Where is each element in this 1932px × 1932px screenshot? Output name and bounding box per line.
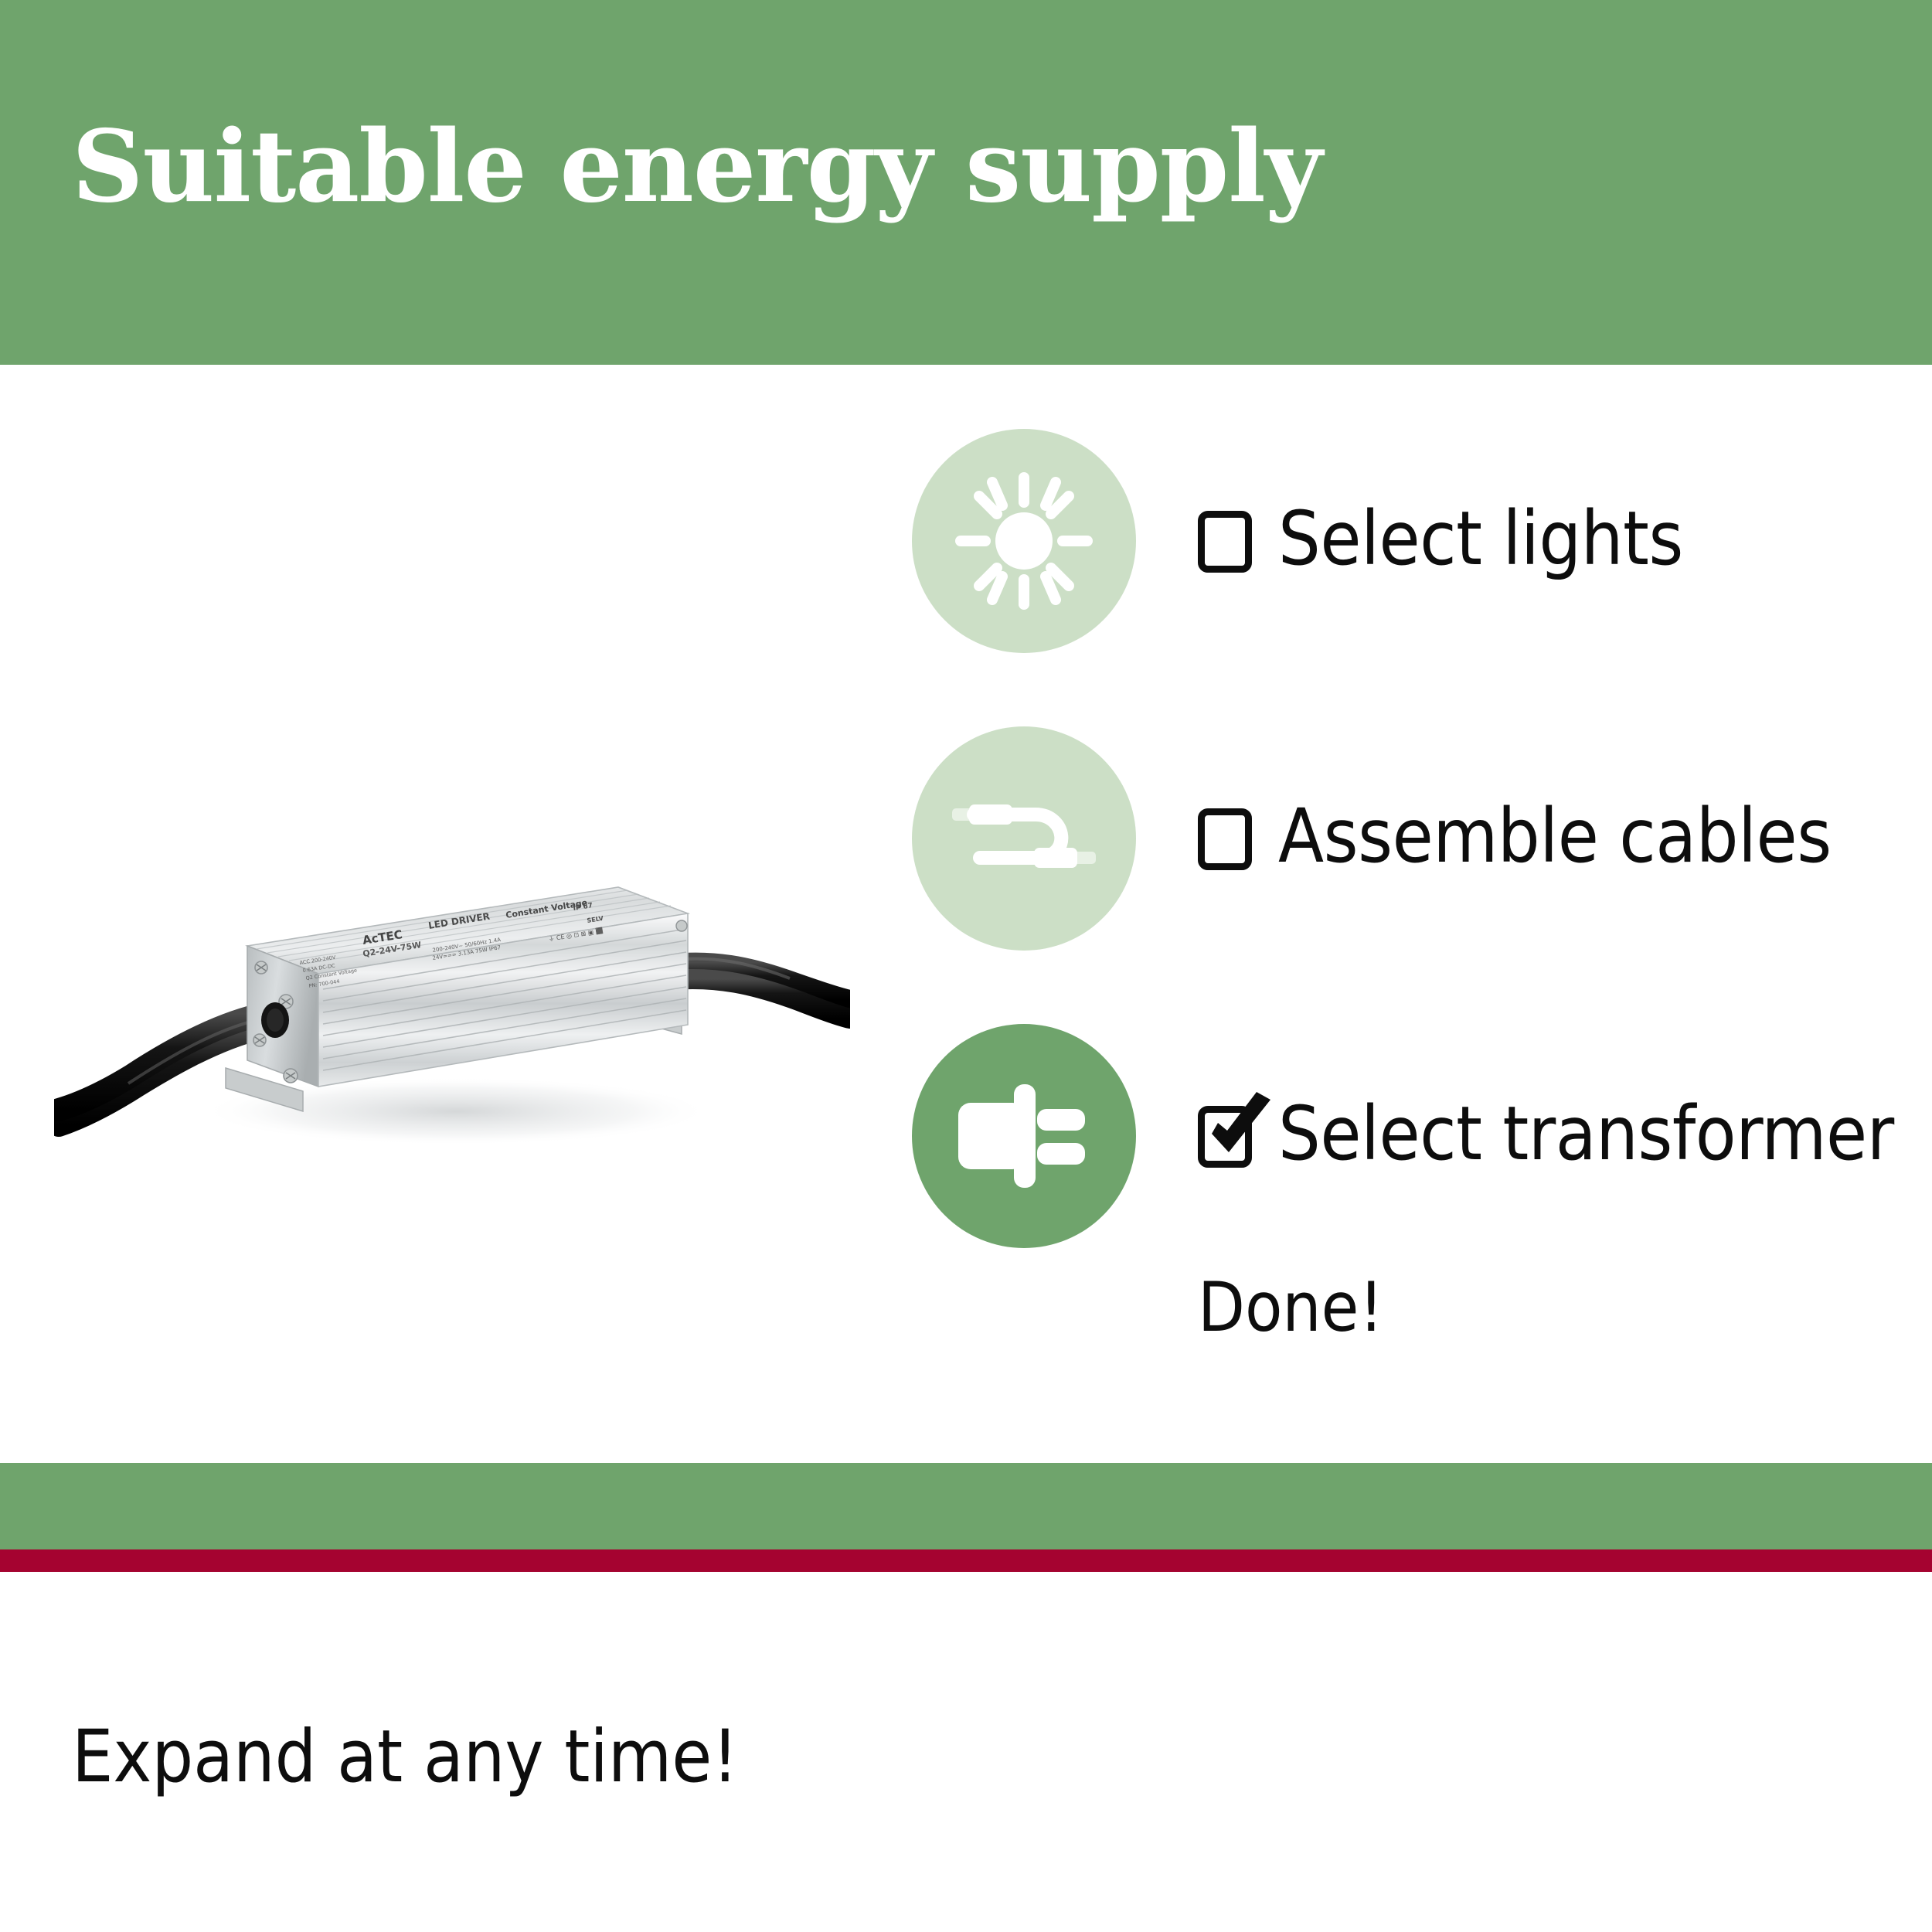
checkbox-assemble-cables[interactable] bbox=[1198, 808, 1246, 864]
cable-icon bbox=[943, 781, 1105, 896]
row-label-assemble-cables[interactable]: Assemble cables bbox=[1198, 790, 1832, 883]
done-text: Done! bbox=[1198, 1274, 1383, 1342]
checklist-row-assemble-cables[interactable]: Assemble cables bbox=[912, 726, 1917, 1024]
checklist-row-select-transformer[interactable]: Select transformer bbox=[912, 1024, 1917, 1321]
checkbox-box bbox=[1198, 1106, 1252, 1168]
page-title: Suitable energy supply bbox=[72, 117, 1321, 216]
header-band: Suitable energy supply bbox=[0, 0, 1932, 365]
checklist-label: Select transformer bbox=[1278, 1097, 1894, 1171]
footer-caption: Expand at any time! bbox=[72, 1721, 738, 1794]
led-driver-illustration: AcTEC Q2-24V-75W LED DRIVER Constant Vol… bbox=[54, 866, 850, 1190]
sun-icon bbox=[954, 471, 1094, 611]
checkbox-select-lights[interactable] bbox=[1198, 511, 1246, 566]
checklist-label: Select lights bbox=[1278, 502, 1683, 576]
infographic-page: Suitable energy supply bbox=[0, 0, 1932, 1932]
checklist: Select lights Assemble cables bbox=[912, 429, 1917, 1321]
sun-icon-circle bbox=[912, 429, 1136, 653]
cable-gland bbox=[261, 1002, 289, 1038]
row-label-select-lights[interactable]: Select lights bbox=[1198, 492, 1683, 585]
checklist-label: Assemble cables bbox=[1278, 799, 1832, 873]
cable-icon-circle bbox=[912, 726, 1136, 951]
checkbox-box bbox=[1198, 511, 1252, 573]
footer-green-bar bbox=[0, 1463, 1932, 1549]
checklist-row-select-lights[interactable]: Select lights bbox=[912, 429, 1917, 726]
footer-red-bar bbox=[0, 1549, 1932, 1572]
checkbox-box bbox=[1198, 808, 1252, 870]
row-label-select-transformer[interactable]: Select transformer bbox=[1198, 1087, 1894, 1180]
plug-icon-circle bbox=[912, 1024, 1136, 1248]
plug-icon bbox=[951, 1078, 1097, 1194]
checkbox-select-transformer[interactable] bbox=[1198, 1106, 1246, 1162]
product-photo-led-driver: AcTEC Q2-24V-75W LED DRIVER Constant Vol… bbox=[54, 866, 850, 1190]
